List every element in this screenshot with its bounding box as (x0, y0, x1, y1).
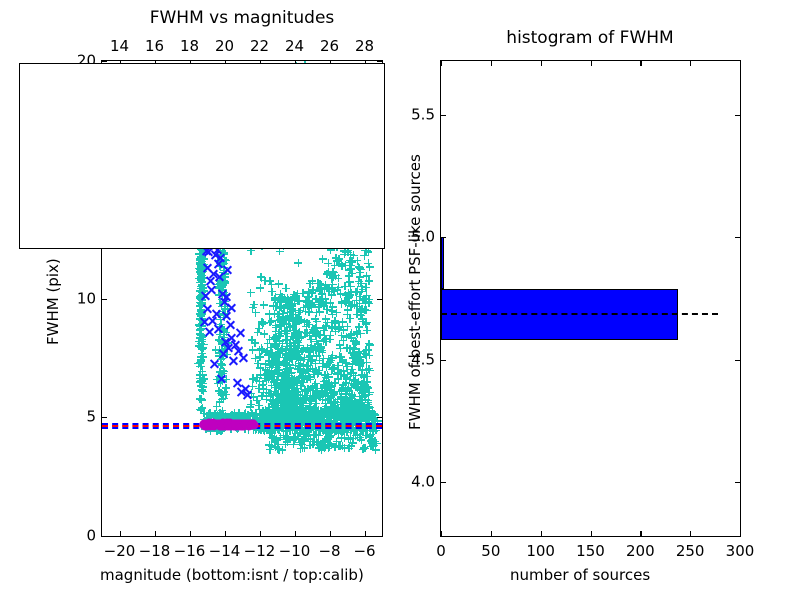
scatter-point-all (347, 289, 355, 297)
scatter-point-all (249, 346, 257, 354)
scatter-point-all (295, 362, 303, 370)
scatter-point-all (356, 268, 364, 276)
x-tick-label: 150 (576, 544, 605, 559)
scatter-point-all (356, 300, 364, 308)
scatter-point-all (336, 344, 344, 352)
tick-mark (441, 115, 446, 116)
scatter-point-all (263, 386, 271, 394)
x-tick-label-top: 20 (215, 39, 234, 54)
tick-mark (120, 531, 121, 536)
tick-mark (377, 61, 382, 62)
scatter-point-rough (226, 302, 237, 313)
scatter-point-all (349, 439, 357, 447)
scatter-point-all (319, 255, 327, 263)
scatter-point-all (260, 301, 268, 309)
x-tick-label: 0 (436, 544, 446, 559)
scatter-point-all (289, 436, 297, 444)
scatter-point-rough (199, 317, 210, 328)
scatter-point-all (257, 274, 265, 282)
scatter-point-all (350, 337, 358, 345)
scatter-point-all (344, 248, 352, 256)
scatter-point-all (260, 319, 268, 327)
scatter-point-all (338, 386, 346, 394)
scatter-point-all (256, 284, 264, 292)
tick-mark (441, 237, 446, 238)
scatter-point-all (286, 300, 294, 308)
scatter-point-all (349, 369, 357, 377)
scatter-point-all (338, 414, 346, 422)
scatter-point-all (322, 315, 330, 323)
tick-mark (591, 531, 592, 536)
scatter-point-all (319, 324, 327, 332)
x-tick-label: −12 (244, 544, 276, 559)
tick-mark (225, 531, 226, 536)
x-tick-label: −8 (318, 544, 340, 559)
scatter-point-all (275, 446, 283, 454)
tick-mark (102, 417, 107, 418)
scatter-point-all (198, 345, 206, 353)
scatter-point-all (196, 395, 204, 403)
tick-mark (735, 115, 740, 116)
tick-mark (740, 531, 741, 536)
scatter-point-all (297, 393, 305, 401)
scatter-point-all (265, 310, 273, 318)
x-tick-label: −14 (209, 544, 241, 559)
scatter-point-all (269, 302, 277, 310)
tick-mark (102, 299, 107, 300)
x-tick-label: 50 (481, 544, 500, 559)
figure-canvas: FWHM vs magnitudes −20−18−16−14−12−10−8−… (0, 0, 800, 600)
scatter-point-all (276, 332, 284, 340)
x-tick-label-top: 28 (355, 39, 374, 54)
x-tick-label-top: 16 (145, 39, 164, 54)
right-x-axis-title: number of sources (510, 568, 650, 583)
x-tick-label: 100 (526, 544, 555, 559)
x-tick-label: 300 (726, 544, 755, 559)
scatter-point-all (353, 328, 361, 336)
x-tick-label: 200 (626, 544, 655, 559)
histogram-bar (441, 237, 444, 288)
y-tick-label: 4.0 (397, 475, 435, 490)
scatter-point-psf (247, 421, 256, 430)
scatter-point-all (311, 371, 319, 379)
scatter-point-all (361, 382, 369, 390)
tick-mark (190, 531, 191, 536)
tick-mark (441, 360, 446, 361)
scatter-point-all (363, 291, 371, 299)
scatter-point-all (320, 436, 328, 444)
scatter-point-psf (231, 420, 240, 429)
scatter-point-all (281, 414, 289, 422)
tick-mark (441, 531, 442, 536)
tick-mark (541, 61, 542, 66)
tick-mark (377, 417, 382, 418)
x-tick-label-top: 14 (110, 39, 129, 54)
tick-mark (640, 531, 641, 536)
scatter-point-all (304, 362, 312, 370)
x-tick-label: 250 (676, 544, 705, 559)
scatter-point-all (247, 400, 255, 408)
scatter-point-all (369, 441, 377, 449)
scatter-point-all (261, 374, 269, 382)
scatter-point-all (333, 257, 341, 265)
scatter-point-all (329, 354, 337, 362)
scatter-point-all (360, 349, 368, 357)
tick-mark (740, 61, 741, 66)
tick-mark (102, 61, 107, 62)
x-tick-label-top: 22 (250, 39, 269, 54)
scatter-point-all (277, 298, 285, 306)
scatter-point-all (267, 442, 275, 450)
scatter-point-all (344, 306, 352, 314)
x-tick-label-top: 18 (180, 39, 199, 54)
scatter-point-all (329, 273, 337, 281)
scatter-point-all (318, 347, 326, 355)
scatter-point-all (346, 278, 354, 286)
scatter-point-all (266, 410, 274, 418)
right-panel-title: histogram of FWHM (506, 30, 673, 47)
scatter-point-all (311, 346, 319, 354)
scatter-point-rough (209, 358, 220, 369)
scatter-point-all (297, 445, 305, 453)
x-tick-label: −6 (353, 544, 375, 559)
scatter-point-rough (216, 373, 227, 384)
left-y-axis-title: FWHM (pix) (46, 258, 61, 345)
tick-mark (690, 61, 691, 66)
scatter-point-all (247, 289, 255, 297)
y-tick-label: 10 (70, 291, 96, 306)
scatter-point-all (199, 353, 207, 361)
scatter-point-all (321, 285, 329, 293)
scatter-point-rough (237, 352, 248, 363)
scatter-point-all (248, 336, 256, 344)
x-tick-label-top: 24 (285, 39, 304, 54)
scatter-point-all (357, 359, 365, 367)
tick-mark (377, 299, 382, 300)
scatter-point-all (254, 328, 262, 336)
scatter-point-all (278, 383, 286, 391)
x-tick-label: −10 (279, 544, 311, 559)
right-y-axis-title: FWHM of best-effort PSF-like sources (408, 154, 423, 430)
scatter-point-psf (208, 420, 217, 429)
scatter-point-all (321, 335, 329, 343)
scatter-point-all (308, 410, 316, 418)
y-tick-label: 5 (70, 410, 96, 425)
scatter-point-all (305, 297, 313, 305)
scatter-point-all (364, 259, 372, 267)
x-tick-label: −18 (139, 544, 171, 559)
x-tick-label: −20 (104, 544, 136, 559)
tick-mark (102, 536, 107, 537)
scatter-point-all (341, 297, 349, 305)
scatter-point-rough (222, 265, 233, 276)
scatter-point-all (263, 348, 271, 356)
tick-mark (441, 61, 442, 66)
scatter-point-all (357, 282, 365, 290)
scatter-point-all (205, 410, 213, 418)
scatter-point-all (311, 315, 319, 323)
tick-mark (260, 531, 261, 536)
tick-mark (365, 531, 366, 536)
scatter-point-all (341, 401, 349, 409)
left-x-axis-title: magnitude (bottom:isnt / top:calib) (100, 568, 364, 583)
left-panel-title: FWHM vs magnitudes (150, 10, 335, 27)
scatter-point-all (315, 303, 323, 311)
tick-mark (491, 61, 492, 66)
scatter-point-all (334, 362, 342, 370)
scatter-point-rough (200, 291, 211, 302)
scatter-point-all (294, 297, 302, 305)
tick-mark (735, 482, 740, 483)
scatter-point-all (301, 354, 309, 362)
scatter-point-all (195, 338, 203, 346)
tick-mark (735, 237, 740, 238)
scatter-point-all (356, 392, 364, 400)
scatter-point-all (363, 318, 371, 326)
scatter-point-rough (228, 355, 239, 366)
scatter-point-rough (204, 326, 215, 337)
scatter-point-all (328, 323, 336, 331)
scatter-point-all (282, 366, 290, 374)
y-tick-label: 0 (70, 529, 96, 544)
scatter-point-rough (234, 327, 245, 338)
scatter-point-all (307, 335, 315, 343)
x-tick-label: −16 (174, 544, 206, 559)
scatter-point-all (196, 378, 204, 386)
scatter-point-all (281, 435, 289, 443)
tick-mark (690, 531, 691, 536)
scatter-point-all (363, 272, 371, 280)
scatter-point-all (264, 339, 272, 347)
scatter-point-all (280, 320, 288, 328)
x-tick-label-top: 26 (320, 39, 339, 54)
right-histogram-area (441, 61, 740, 536)
tick-mark (735, 360, 740, 361)
scatter-point-all (249, 375, 257, 383)
scatter-point-rough (242, 389, 253, 400)
scatter-point-all (356, 400, 364, 408)
tick-mark (491, 531, 492, 536)
y-tick-label: 5.5 (397, 107, 435, 122)
tick-mark (441, 482, 446, 483)
scatter-point-all (335, 442, 343, 450)
scatter-point-all (252, 309, 260, 317)
scatter-point-all (322, 392, 330, 400)
scatter-point-all (288, 308, 296, 316)
scatter-point-all (255, 385, 263, 393)
tick-mark (377, 536, 382, 537)
legend-box (19, 63, 385, 249)
tick-mark (591, 61, 592, 66)
scatter-point-all (220, 388, 228, 396)
scatter-point-rough (205, 275, 216, 286)
scatter-point-all (278, 346, 286, 354)
tick-mark (330, 531, 331, 536)
scatter-point-all (296, 429, 304, 437)
scatter-point-all (346, 258, 354, 266)
scatter-point-all (268, 280, 276, 288)
scatter-point-all (316, 356, 324, 364)
tick-mark (295, 531, 296, 536)
scatter-point-all (286, 341, 294, 349)
tick-mark (155, 531, 156, 536)
scatter-point-all (325, 381, 333, 389)
scatter-point-all (312, 438, 320, 446)
histogram-resultant-fwhm-line (441, 313, 718, 315)
scatter-point-all (282, 284, 290, 292)
tick-mark (640, 61, 641, 66)
scatter-point-all (290, 350, 298, 358)
scatter-point-all (294, 259, 302, 267)
tick-mark (541, 531, 542, 536)
